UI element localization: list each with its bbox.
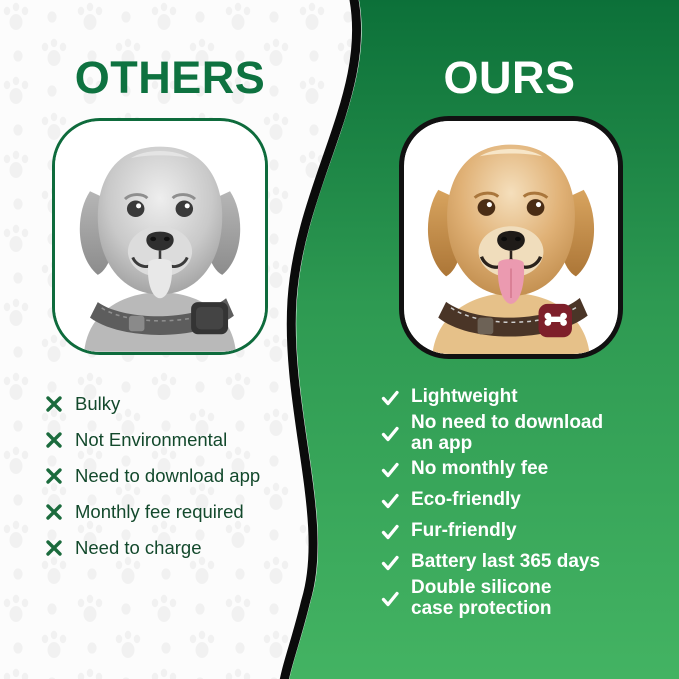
list-item-label: Bulky — [75, 394, 120, 414]
page-title-others: OTHERS — [0, 52, 340, 104]
x-icon — [44, 538, 64, 558]
check-icon — [380, 388, 400, 408]
page-title-ours: OURS — [340, 52, 679, 104]
list-item: Fur-friendly — [380, 516, 660, 547]
list-item-label: Battery last 365 days — [411, 552, 600, 573]
list-item-label: No monthly fee — [411, 459, 548, 480]
check-icon — [380, 553, 400, 573]
list-item: Not Environmental — [44, 422, 314, 458]
list-item-label: Eco-friendly — [411, 490, 521, 511]
list-item: Bulky — [44, 386, 314, 422]
check-icon — [380, 460, 400, 480]
x-icon — [44, 394, 64, 414]
list-item-label: Monthly fee required — [75, 502, 244, 522]
comparison-infographic: OTHERS OURS — [0, 0, 679, 679]
dog-illustration-grayscale — [55, 121, 265, 352]
list-item: Battery last 365 days — [380, 547, 660, 578]
list-item: Eco-friendly — [380, 485, 660, 516]
list-item: Lightweight — [380, 382, 660, 413]
check-icon — [380, 522, 400, 542]
others-feature-list: Bulky Not Environmental Need to download… — [44, 386, 314, 566]
x-icon — [44, 466, 64, 486]
list-item: No need to download an app — [380, 413, 660, 454]
check-icon — [380, 491, 400, 511]
check-icon — [380, 424, 400, 444]
ours-feature-list: Lightweight No need to download an app N… — [380, 382, 660, 619]
x-icon — [44, 430, 64, 450]
list-item: No monthly fee — [380, 454, 660, 485]
check-icon — [380, 589, 400, 609]
others-dog-photo — [52, 118, 268, 355]
list-item-label: Need to charge — [75, 538, 202, 558]
list-item-label: No need to download an app — [411, 413, 603, 454]
list-item-label: Fur-friendly — [411, 521, 517, 542]
dog-illustration-color — [404, 121, 618, 354]
list-item: Need to download app — [44, 458, 314, 494]
list-item-label: Need to download app — [75, 466, 260, 486]
list-item: Need to charge — [44, 530, 314, 566]
list-item: Double silicone case protection — [380, 578, 660, 619]
list-item-label: Not Environmental — [75, 430, 227, 450]
ours-dog-photo — [399, 116, 623, 359]
list-item-label: Lightweight — [411, 387, 518, 408]
list-item: Monthly fee required — [44, 494, 314, 530]
list-item-label: Double silicone case protection — [411, 578, 551, 619]
x-icon — [44, 502, 64, 522]
